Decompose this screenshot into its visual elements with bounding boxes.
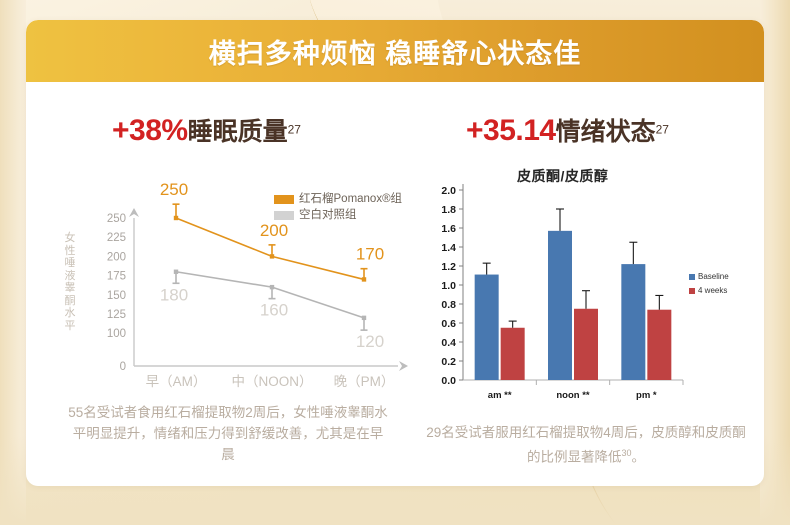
svg-text:200: 200: [107, 251, 126, 263]
svg-text:1.4: 1.4: [441, 242, 456, 254]
svg-text:0: 0: [120, 361, 126, 373]
svg-text:0.2: 0.2: [441, 356, 456, 368]
caption-left: 55名受试者食用红石榴提取物2周后，女性唾液睾酮水平明显提升，情绪和压力得到舒缓…: [68, 402, 388, 465]
svg-text:noon **: noon **: [556, 390, 590, 401]
line-chart-testosterone: 女性唾液睾酮水平 红石榴Pomanox®组 空白对照组 250225200175…: [44, 170, 412, 395]
svg-text:1.2: 1.2: [441, 261, 456, 273]
headline-banner: 横扫多种烦恼 稳睡舒心状态佳: [26, 20, 764, 82]
svg-text:0.6: 0.6: [441, 318, 456, 330]
bar-chart-canvas: 0.00.20.40.60.81.01.21.41.61.82.0am **no…: [421, 168, 751, 416]
stat-sleep-quality: +38%睡眠质量27: [112, 112, 301, 148]
caption-right: 29名受试者服用红石榴提取物4周后，皮质醇和皮质酮的比例显著降低30。: [421, 422, 751, 468]
svg-text:1.8: 1.8: [441, 204, 456, 216]
svg-text:0.8: 0.8: [441, 299, 456, 311]
svg-text:0.0: 0.0: [441, 375, 456, 387]
svg-text:225: 225: [107, 232, 126, 244]
svg-text:100: 100: [107, 328, 126, 340]
caption-right-tail: 。: [632, 450, 646, 465]
svg-text:170: 170: [356, 245, 384, 264]
bar-chart-cortisone-cortisol: 皮质酮/皮质醇 Baseline 4 weeks 0.00.20.40.60.8…: [421, 168, 751, 416]
svg-text:2.0: 2.0: [441, 185, 456, 197]
svg-text:200: 200: [260, 221, 288, 240]
svg-text:250: 250: [107, 213, 126, 225]
svg-text:中（NOON）: 中（NOON）: [232, 374, 313, 389]
stat-sleep-quality-number: +38%: [112, 114, 188, 147]
svg-text:250: 250: [160, 180, 188, 199]
svg-text:150: 150: [107, 290, 126, 302]
stat-sleep-quality-reference: 27: [288, 123, 301, 137]
svg-text:0.4: 0.4: [441, 337, 456, 349]
svg-text:1.0: 1.0: [441, 280, 456, 292]
svg-text:160: 160: [260, 301, 288, 320]
stat-mood-state-reference: 27: [656, 123, 669, 137]
svg-text:pm *: pm *: [636, 390, 657, 401]
svg-text:1.6: 1.6: [441, 223, 456, 235]
svg-text:早（AM）: 早（AM）: [146, 374, 207, 389]
svg-text:am **: am **: [488, 390, 512, 401]
svg-text:125: 125: [107, 309, 126, 321]
svg-text:175: 175: [107, 271, 126, 283]
line-chart-canvas: 2502252001751501251000早（AM）中（NOON）晚（PM）1…: [44, 170, 412, 395]
banner-title: 横扫多种烦恼 稳睡舒心状态佳: [209, 32, 582, 71]
stat-sleep-quality-label: 睡眠质量: [188, 118, 288, 146]
svg-text:120: 120: [356, 332, 384, 351]
stat-mood-state-label: 情绪状态: [556, 118, 656, 146]
caption-right-reference: 30: [621, 448, 631, 458]
stat-mood-state: +35.14情绪状态27: [466, 112, 669, 148]
content-card: 横扫多种烦恼 稳睡舒心状态佳 +38%睡眠质量27 +35.14情绪状态27 女…: [26, 20, 764, 486]
caption-right-text: 29名受试者服用红石榴提取物4周后，皮质醇和皮质酮的比例显著降低: [426, 425, 746, 465]
svg-text:晚（PM）: 晚（PM）: [334, 374, 395, 389]
stat-mood-state-number: +35.14: [466, 114, 556, 147]
svg-text:180: 180: [160, 285, 188, 304]
